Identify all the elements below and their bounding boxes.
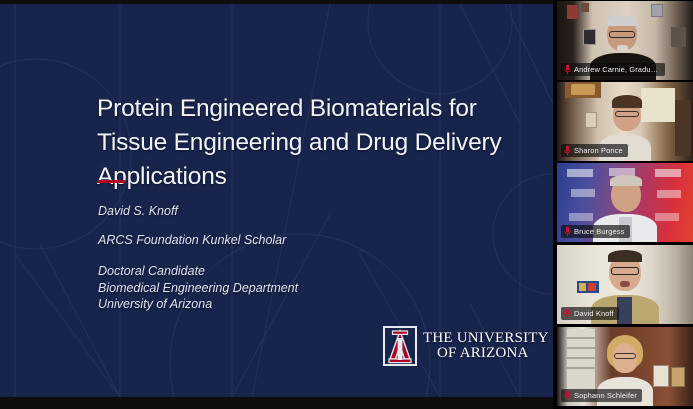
presenter-award: ARCS Foundation Kunkel Scholar — [98, 234, 478, 247]
presenter-department: Biomedical Engineering Department — [98, 280, 478, 297]
shared-screen-region[interactable]: Protein Engineered Biomaterials for Tiss… — [0, 0, 553, 409]
university-of-arizona-logo: THE UNIVERSITY OF ARIZONA — [383, 326, 549, 366]
microphone-icon — [564, 308, 571, 319]
microphone-icon — [564, 145, 571, 156]
microphone-icon — [564, 390, 571, 401]
logo-text-line-1: THE UNIVERSITY — [423, 331, 549, 346]
participant-name: Andrew Carnie, Graduat... — [574, 65, 660, 74]
participant-name-badge: Sharon Ponce — [561, 144, 628, 157]
slide-subtitle-block: David S. Knoff ARCS Foundation Kunkel Sc… — [98, 205, 478, 313]
slide-title: Protein Engineered Biomaterials for Tiss… — [97, 92, 547, 193]
participant-name-badge: Sophann Schleifer — [561, 389, 642, 402]
microphone-icon — [564, 64, 571, 75]
arizona-block-a-icon — [383, 326, 417, 366]
participant-name: Bruce Burgess — [574, 227, 625, 236]
participant-name: Sharon Ponce — [574, 146, 623, 155]
participant-name-badge: David Knoff — [561, 307, 619, 320]
participant-name: David Knoff — [574, 309, 614, 318]
presenter-name: David S. Knoff — [98, 205, 478, 218]
participant-name-badge: Bruce Burgess — [561, 225, 630, 238]
participant-tile[interactable]: Sophann Schleifer — [557, 327, 693, 406]
participant-tile-active-speaker[interactable]: David Knoff — [557, 245, 693, 324]
participant-video-rail[interactable]: Andrew Carnie, Graduat... — [553, 0, 693, 409]
participant-tile[interactable]: Bruce Burgess — [557, 163, 693, 242]
participant-tile[interactable]: Sharon Ponce — [557, 82, 693, 161]
presenter-role: Doctoral Candidate — [98, 263, 478, 280]
presenter-institution: University of Arizona — [98, 296, 478, 313]
participant-tile[interactable]: Andrew Carnie, Graduat... — [557, 1, 693, 80]
logo-text-line-2: OF ARIZONA — [423, 346, 549, 361]
presentation-slide: Protein Engineered Biomaterials for Tiss… — [0, 4, 553, 397]
participant-name: Sophann Schleifer — [574, 391, 637, 400]
screen-share-meeting-view: Protein Engineered Biomaterials for Tiss… — [0, 0, 693, 409]
microphone-icon — [564, 226, 571, 237]
participant-name-badge: Andrew Carnie, Graduat... — [561, 63, 665, 76]
title-accent-rule — [97, 180, 125, 183]
